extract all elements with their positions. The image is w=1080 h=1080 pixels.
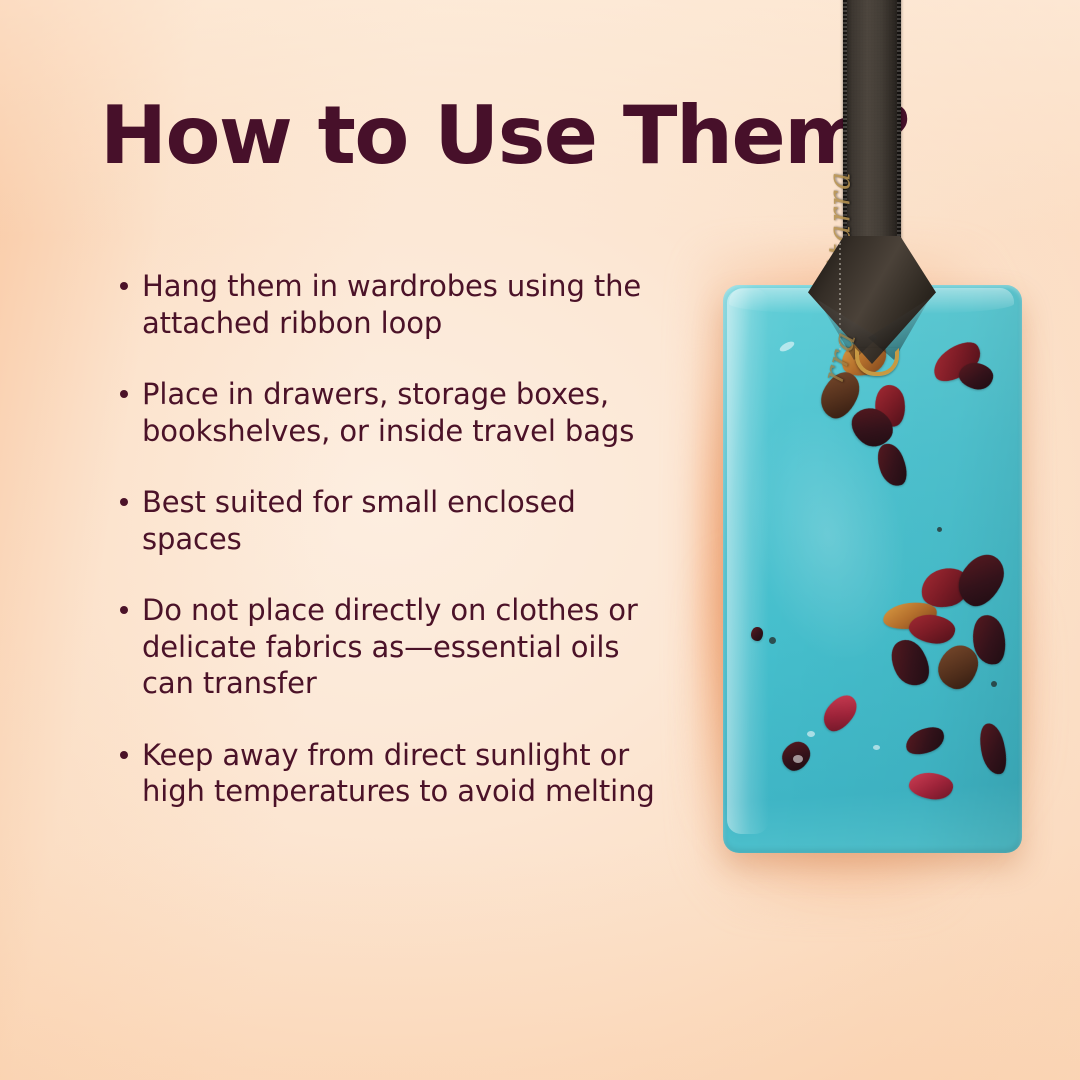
wax-bubble <box>778 340 795 354</box>
bullet-dot-icon <box>120 390 128 398</box>
rose-petal <box>818 689 863 737</box>
rose-petal <box>902 723 948 759</box>
rose-petal <box>975 721 1011 777</box>
wax-bubble <box>793 755 803 763</box>
wax-speck <box>991 681 997 687</box>
bullet-dot-icon <box>120 606 128 614</box>
product-photo: Vätarra rra <box>600 0 1080 1080</box>
list-item-text: Keep away from direct sunlight or high t… <box>142 738 655 809</box>
poster-canvas: How to Use Them? Hang them in wardrobes … <box>0 0 1080 1080</box>
list-item: Best suited for small enclosed spaces <box>100 484 670 557</box>
wax-speck <box>769 637 776 644</box>
list-item-text: Do not place directly on clothes or deli… <box>142 593 638 700</box>
list-item-text: Hang them in wardrobes using the attache… <box>142 269 641 340</box>
list-item: Keep away from direct sunlight or high t… <box>100 737 670 810</box>
list-item-text: Place in drawers, storage boxes, bookshe… <box>142 377 634 448</box>
wax-bubble <box>807 731 815 737</box>
rose-petal <box>751 627 763 641</box>
bullet-dot-icon <box>120 498 128 506</box>
list-item: Place in drawers, storage boxes, bookshe… <box>100 376 670 449</box>
list-item: Do not place directly on clothes or deli… <box>100 592 670 702</box>
usage-instructions-list: Hang them in wardrobes using the attache… <box>100 268 670 810</box>
content-column: How to Use Them? Hang them in wardrobes … <box>100 96 670 810</box>
list-item: Hang them in wardrobes using the attache… <box>100 268 670 341</box>
bullet-dot-icon <box>120 751 128 759</box>
wax-speck <box>937 527 942 532</box>
wax-bubble <box>873 745 880 750</box>
rose-petal <box>951 547 1012 613</box>
bullet-dot-icon <box>120 282 128 290</box>
page-title: How to Use Them? <box>100 96 670 176</box>
list-item-text: Best suited for small enclosed spaces <box>142 485 576 556</box>
rose-petal <box>907 770 954 802</box>
